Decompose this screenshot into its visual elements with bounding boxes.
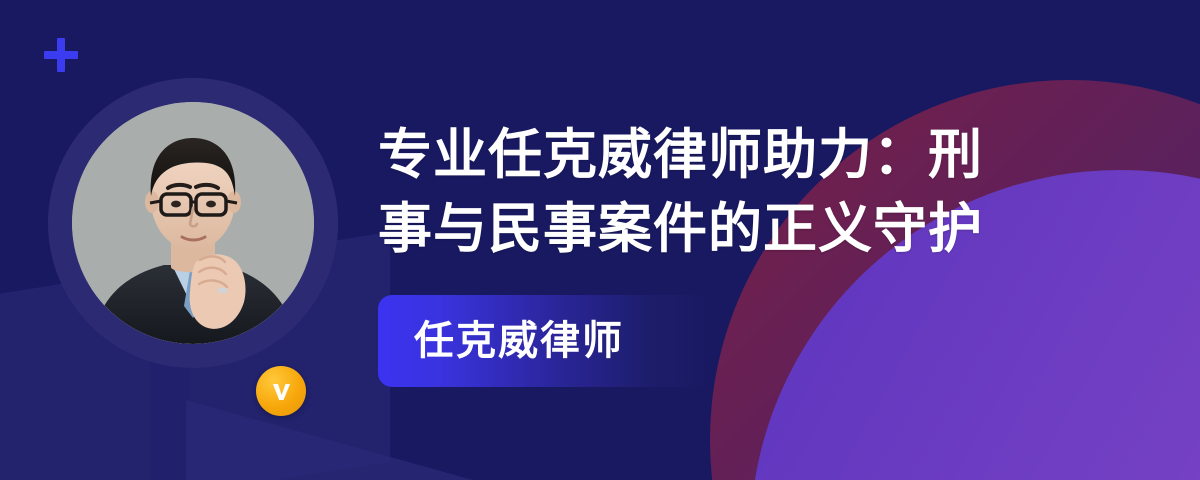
verified-badge-icon — [256, 366, 306, 416]
plus-icon — [44, 38, 78, 72]
page-title: 专业任克威律师助力：刑 事与民事案件的正义守护 — [378, 118, 1078, 266]
avatar-photo — [72, 102, 314, 344]
promo-banner: 专业任克威律师助力：刑 事与民事案件的正义守护 任克威律师 — [0, 0, 1200, 480]
lawyer-name-label: 任克威律师 — [414, 321, 624, 361]
background-triangle — [186, 400, 616, 480]
lawyer-name-badge[interactable]: 任克威律师 — [378, 295, 710, 387]
headline-block: 专业任克威律师助力：刑 事与民事案件的正义守护 — [378, 118, 1078, 266]
avatar — [48, 78, 338, 368]
